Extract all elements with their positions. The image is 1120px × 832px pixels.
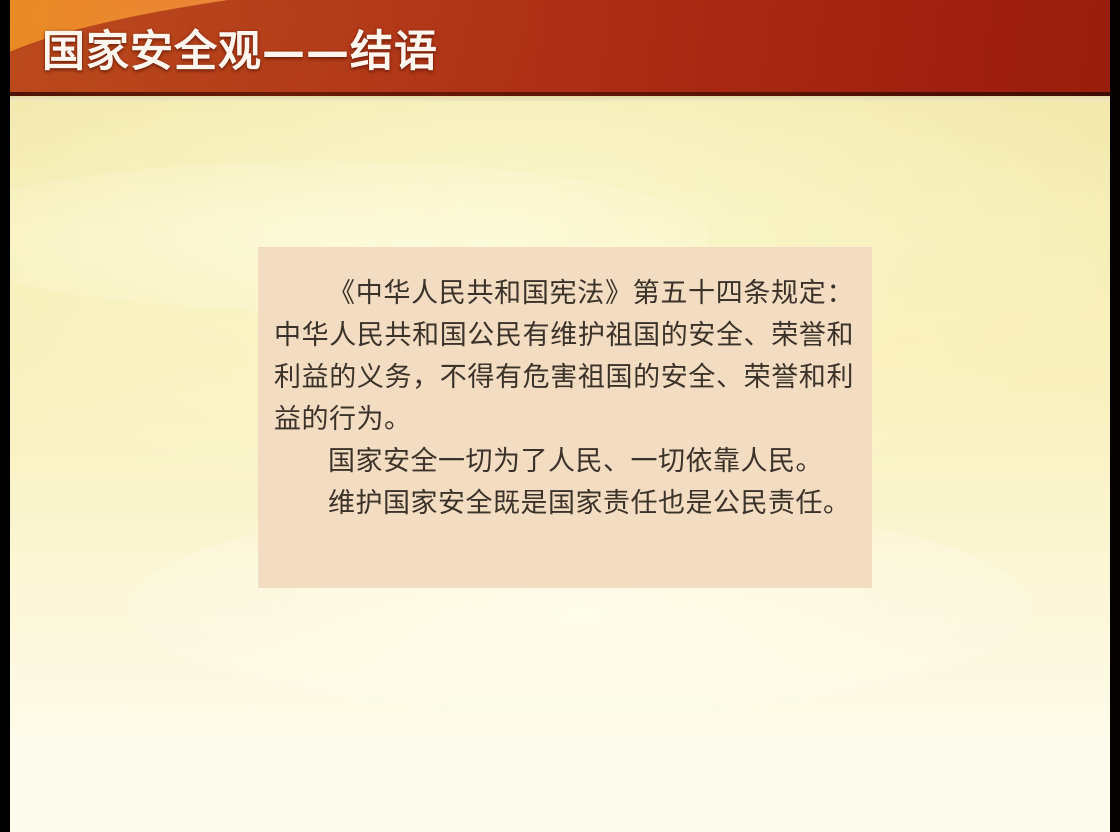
- slide-header-band: 国家安全观——结语: [10, 0, 1110, 96]
- content-text-panel: 《中华人民共和国宪法》第五十四条规定：中华人民共和国公民有维护祖国的安全、荣誉和…: [258, 247, 872, 588]
- header-baseline-decoration: [10, 92, 1110, 96]
- content-paragraph-constitution: 《中华人民共和国宪法》第五十四条规定：中华人民共和国公民有维护祖国的安全、荣誉和…: [274, 273, 854, 441]
- header-separator-line: [10, 96, 1110, 101]
- slide-body-canvas: 《中华人民共和国宪法》第五十四条规定：中华人民共和国公民有维护祖国的安全、荣誉和…: [10, 101, 1110, 832]
- slide-inner: 国家安全观——结语 《中华人民共和国宪法》第五十四条规定：中华人民共和国公民有维…: [10, 0, 1110, 832]
- slide-frame: 国家安全观——结语 《中华人民共和国宪法》第五十四条规定：中华人民共和国公民有维…: [0, 0, 1120, 832]
- content-paragraph-for-the-people: 国家安全一切为了人民、一切依靠人民。: [274, 441, 854, 483]
- page-title: 国家安全观——结语: [42, 17, 438, 79]
- content-paragraph-responsibility: 维护国家安全既是国家责任也是公民责任。: [274, 483, 854, 525]
- slide-right-bezel: [1110, 0, 1120, 832]
